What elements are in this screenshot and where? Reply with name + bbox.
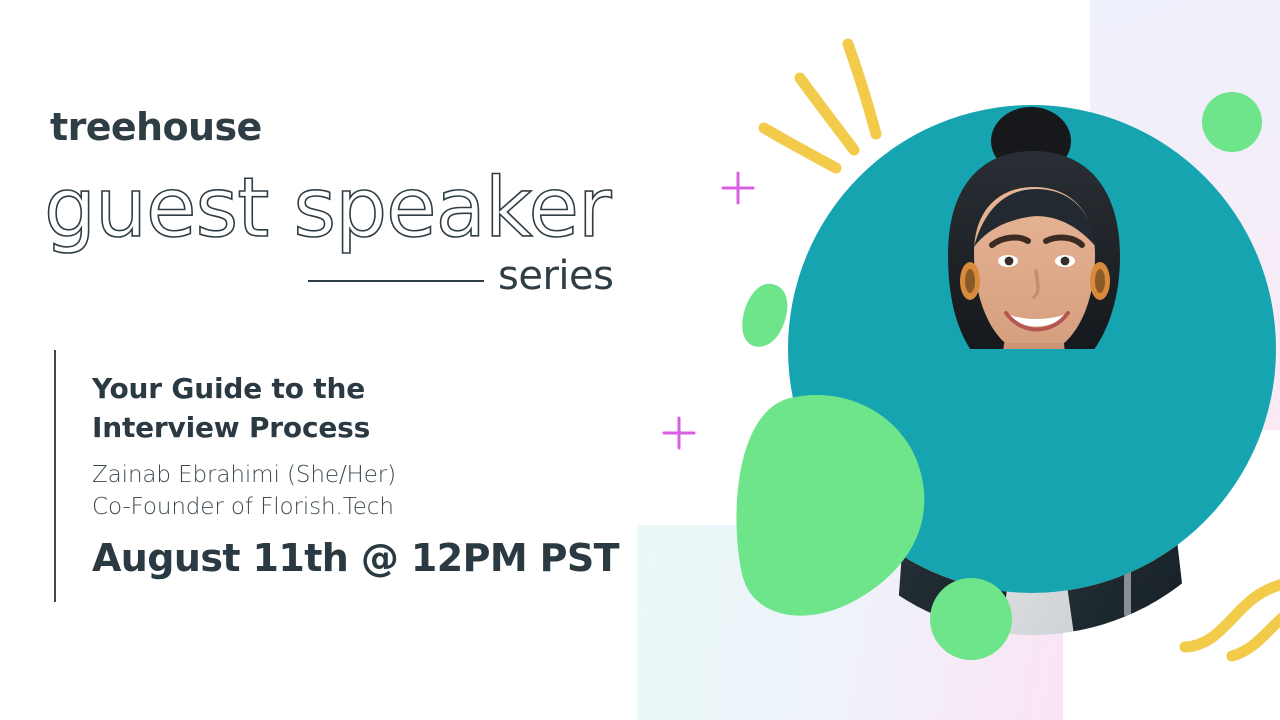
speaker-portrait bbox=[788, 105, 1276, 635]
talk-title: Your Guide to the Interview Process bbox=[92, 370, 522, 447]
text-column: treehouse guest speaker series Your Guid… bbox=[0, 0, 660, 720]
plus-mark-icon bbox=[664, 418, 694, 448]
yellow-squiggle-icon bbox=[1185, 582, 1280, 656]
speaker-name: Zainab Ebrahimi (She/Her) bbox=[92, 462, 396, 490]
plus-mark-icon bbox=[723, 173, 753, 203]
speaker-role: Co-Founder of Florish.Tech bbox=[92, 494, 394, 522]
svg-text:guest speaker: guest speaker bbox=[44, 161, 612, 256]
vertical-accent-rule bbox=[54, 350, 56, 602]
event-datetime: August 11th @ 12PM PST bbox=[92, 536, 619, 582]
green-bean-shape bbox=[742, 284, 787, 347]
sparkle-strokes-icon bbox=[764, 44, 876, 168]
talk-title-line-1: Your Guide to the bbox=[92, 370, 522, 409]
promo-banner: treehouse guest speaker series Your Guid… bbox=[0, 0, 1280, 720]
series-label: series bbox=[498, 256, 613, 296]
talk-title-line-2: Interview Process bbox=[92, 409, 522, 448]
guest-speaker-outline-headline: guest speaker bbox=[44, 160, 664, 260]
treehouse-wordmark: treehouse bbox=[50, 108, 262, 146]
series-divider-rule bbox=[308, 280, 484, 282]
